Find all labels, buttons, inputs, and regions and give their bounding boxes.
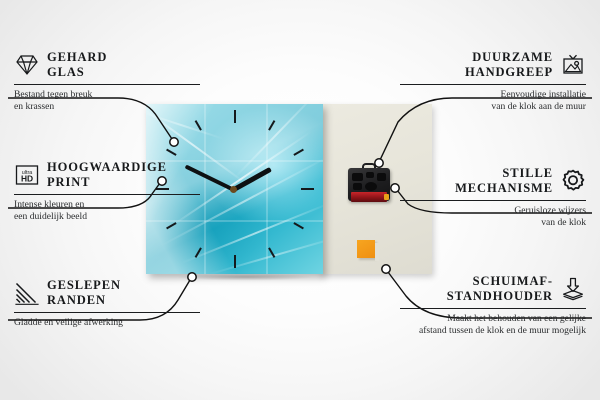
feature-divider <box>14 194 200 195</box>
feature-title: DUURZAME HANDGREEP <box>465 50 553 80</box>
gear-icon <box>560 168 586 194</box>
battery-terminal <box>384 194 389 200</box>
clock-tick-2 <box>293 149 304 156</box>
feature-title: HOOGWAARDIGE PRINT <box>47 160 167 190</box>
feature-geslepen-randen: GESLEPEN RANDEN Gladde en veilige afwerk… <box>14 278 200 329</box>
feature-description: Gladde en veilige afwerking <box>14 317 200 330</box>
feature-header: GESLEPEN RANDEN <box>14 278 200 308</box>
clock-mechanism <box>348 163 390 201</box>
feature-divider <box>14 312 200 313</box>
feature-title: SCHUIMAF- STANDHOUDER <box>447 274 553 304</box>
mechanism-dial <box>365 182 377 191</box>
feature-gehard-glas: GEHARD GLAS Bestand tegen breuk en krass… <box>14 50 200 114</box>
clock-center-cap <box>230 186 237 193</box>
texture-streak <box>181 202 323 264</box>
feature-header: DUURZAME HANDGREEP <box>400 50 586 80</box>
diamond-icon <box>14 52 40 78</box>
feature-divider <box>400 84 586 85</box>
battery <box>351 192 387 202</box>
feature-title: STILLE MECHANISME <box>455 166 553 196</box>
feature-description: Eenvoudige installatie van de klok aan d… <box>400 89 586 115</box>
clock-tick-4 <box>293 222 304 229</box>
feature-title: GESLEPEN RANDEN <box>47 278 121 308</box>
mechanism-body <box>348 168 390 201</box>
feature-description: Bestand tegen breuk en krassen <box>14 89 200 115</box>
mechanism-knob-a <box>352 173 363 181</box>
feature-stille-mechanisme: STILLE MECHANISME Geruisloze wijzers van… <box>400 166 586 230</box>
clock-tick-12 <box>234 110 236 123</box>
bevelled-edge-icon <box>14 280 40 306</box>
ultra-hd-icon: ultra HD <box>14 162 40 188</box>
clock-tick-10 <box>166 149 177 156</box>
feature-header: ultra HD HOOGWAARDIGE PRINT <box>14 160 200 190</box>
feature-header: SCHUIMAF- STANDHOUDER <box>400 274 586 304</box>
clock-tick-6 <box>234 255 236 268</box>
feature-hoogwaardige-print: ultra HD HOOGWAARDIGE PRINT Intense kleu… <box>14 160 200 224</box>
foam-spacer-pad <box>357 240 375 258</box>
clock-tick-3 <box>301 188 314 190</box>
feature-divider <box>400 308 586 309</box>
foam-spacer-icon <box>560 276 586 302</box>
feature-duurzame-handgreep: DUURZAME HANDGREEP Eenvoudige installati… <box>400 50 586 114</box>
feature-description: Geruisloze wijzers van de klok <box>400 205 586 231</box>
feature-divider <box>400 200 586 201</box>
mechanism-knob-b <box>366 172 374 178</box>
svg-text:HD: HD <box>21 173 33 183</box>
clock-tick-1 <box>268 120 275 131</box>
feature-title: GEHARD GLAS <box>47 50 107 80</box>
infographic-stage: GEHARD GLAS Bestand tegen breuk en krass… <box>0 0 600 400</box>
mechanism-knob-d <box>353 183 362 190</box>
texture-streak <box>146 110 224 140</box>
feature-schuimafstandhouder: SCHUIMAF- STANDHOUDER Maakt het behouden… <box>400 274 586 338</box>
feature-description: Intense kleuren en een duidelijk beeld <box>14 199 200 225</box>
pane-seam-v1 <box>204 104 206 274</box>
feature-description: Maakt het behouden van een gelijke afsta… <box>400 313 586 339</box>
mechanism-knob-c <box>377 173 386 181</box>
feature-header: GEHARD GLAS <box>14 50 200 80</box>
feature-header: STILLE MECHANISME <box>400 166 586 196</box>
feature-divider <box>14 84 200 85</box>
picture-frame-icon <box>560 52 586 78</box>
